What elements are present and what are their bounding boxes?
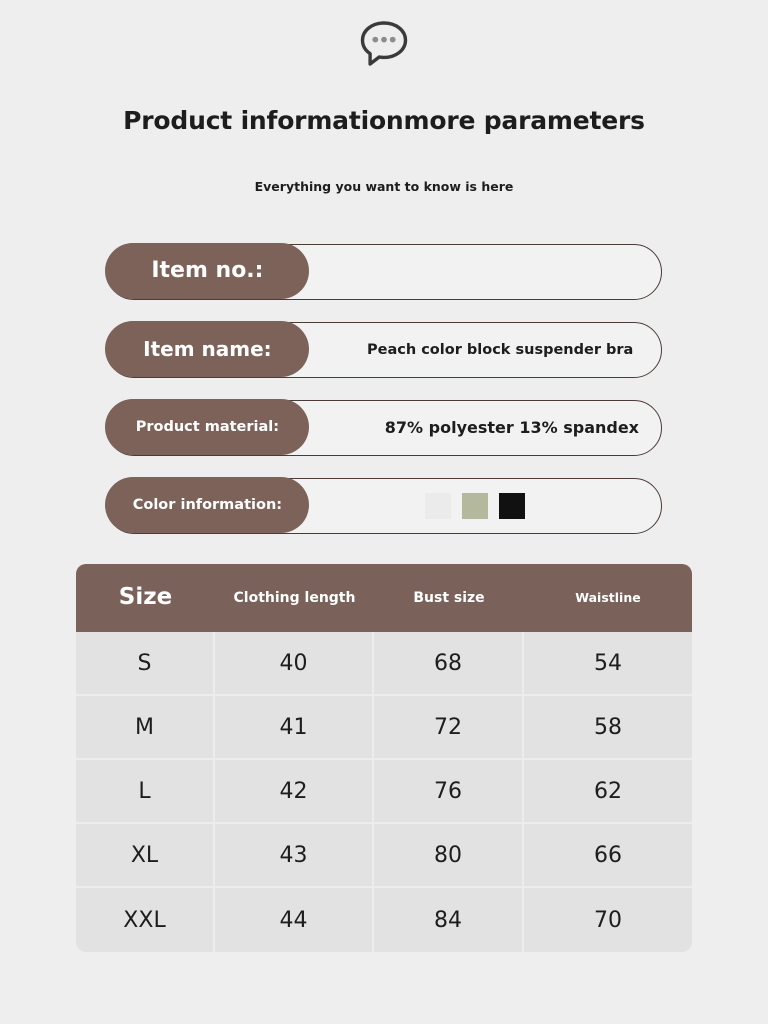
header-icon-container	[0, 0, 768, 72]
cell-waistline: 70	[524, 888, 692, 952]
table-row: L 42 76 62	[76, 760, 692, 824]
cell-bust-size: 68	[374, 632, 524, 696]
size-chart-body: S 40 68 54 M 41 72 58 L 42 76 62 XL 43 8…	[76, 632, 692, 952]
info-value-item-name: Peach color block suspender bra	[311, 323, 661, 377]
color-swatch-sage-green[interactable]	[462, 493, 488, 519]
cell-size: S	[76, 632, 215, 696]
cell-size: XXL	[76, 888, 215, 952]
color-swatch-list	[425, 493, 525, 519]
info-value-product-material: 87% polyester 13% spandex	[311, 401, 661, 455]
cell-waistline: 58	[524, 696, 692, 760]
color-swatch-white[interactable]	[425, 493, 451, 519]
info-row-item-name: Item name: Peach color block suspender b…	[106, 322, 662, 378]
info-label-product-material: Product material:	[105, 399, 309, 455]
info-row-color-information: Color information:	[106, 478, 662, 534]
column-header-bust-size: Bust size	[374, 564, 524, 632]
column-header-clothing-length: Clothing length	[215, 564, 374, 632]
cell-waistline: 54	[524, 632, 692, 696]
cell-waistline: 62	[524, 760, 692, 824]
cell-bust-size: 80	[374, 824, 524, 888]
info-row-product-material: Product material: 87% polyester 13% span…	[106, 400, 662, 456]
cell-waistline: 66	[524, 824, 692, 888]
size-chart-header-row: Size Clothing length Bust size Waistline	[76, 564, 692, 632]
table-row: XL 43 80 66	[76, 824, 692, 888]
column-header-waistline: Waistline	[524, 564, 692, 632]
size-chart-header: Size Clothing length Bust size Waistline	[76, 564, 692, 632]
cell-size: XL	[76, 824, 215, 888]
cell-bust-size: 84	[374, 888, 524, 952]
page-subtitle: Everything you want to know is here	[0, 179, 768, 194]
column-header-size: Size	[76, 564, 215, 632]
info-label-color-information: Color information:	[105, 477, 309, 533]
table-row: M 41 72 58	[76, 696, 692, 760]
product-information-page: Product informationmore parameters Every…	[0, 0, 768, 1024]
cell-size: L	[76, 760, 215, 824]
cell-clothing-length: 42	[215, 760, 374, 824]
chat-bubble-dots-icon	[355, 14, 413, 72]
table-row: S 40 68 54	[76, 632, 692, 696]
info-row-item-no: Item no.:	[106, 244, 662, 300]
info-value-item-no	[311, 245, 661, 299]
cell-clothing-length: 43	[215, 824, 374, 888]
cell-clothing-length: 41	[215, 696, 374, 760]
product-info-list: Item no.: Item name: Peach color block s…	[0, 244, 768, 534]
info-label-item-no: Item no.:	[105, 243, 309, 299]
cell-clothing-length: 40	[215, 632, 374, 696]
size-chart-table: Size Clothing length Bust size Waistline…	[76, 564, 692, 952]
color-swatch-black[interactable]	[499, 493, 525, 519]
cell-bust-size: 76	[374, 760, 524, 824]
info-label-item-name: Item name:	[105, 321, 309, 377]
info-value-color-information	[311, 479, 661, 533]
cell-size: M	[76, 696, 215, 760]
cell-clothing-length: 44	[215, 888, 374, 952]
table-row: XXL 44 84 70	[76, 888, 692, 952]
page-title: Product informationmore parameters	[0, 106, 768, 135]
cell-bust-size: 72	[374, 696, 524, 760]
